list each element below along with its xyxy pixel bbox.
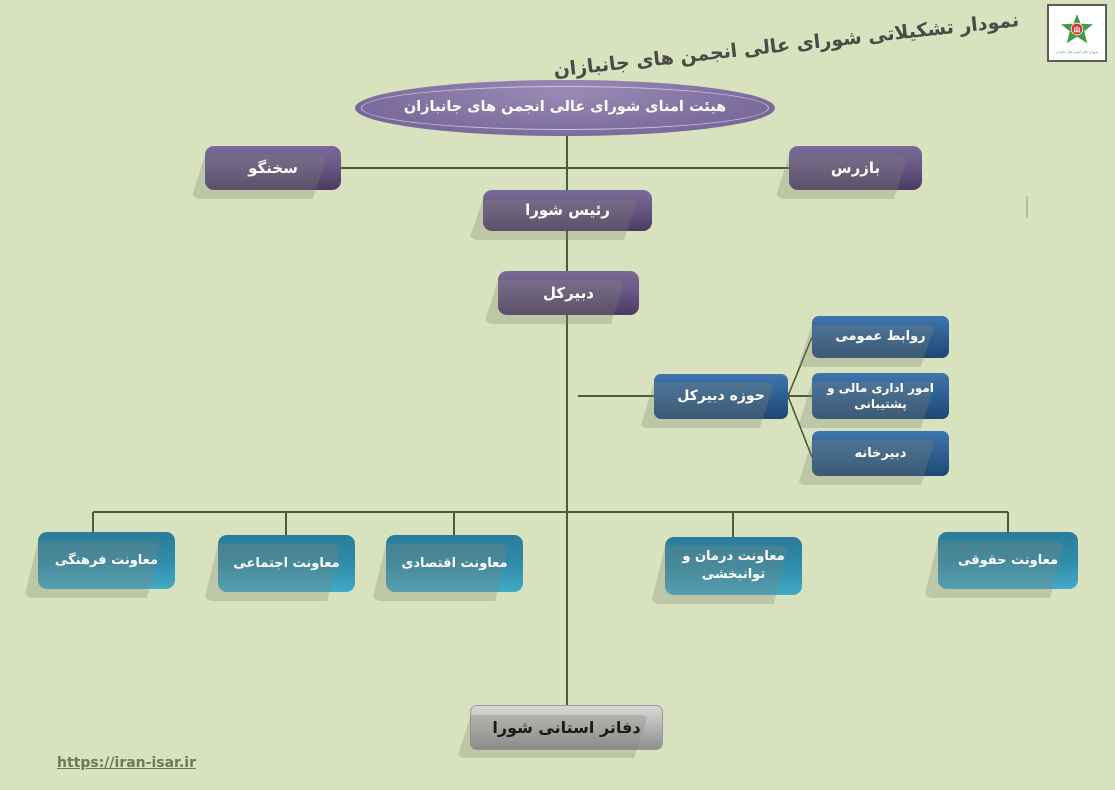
node-deputy-social[interactable]: معاونت اجتماعی — [218, 535, 355, 592]
node-public-relations[interactable]: روابط عمومی — [812, 316, 949, 358]
node-label: سخنگو — [242, 158, 304, 178]
node-label: دفاتر استانی شورا — [486, 717, 646, 739]
page-title: نمودار تشکیلاتی شورای عالی انجمن های جان… — [719, 8, 1020, 66]
stray-tick-artifact — [1026, 196, 1028, 218]
node-inspector[interactable]: بازرس — [789, 146, 922, 190]
node-deputy-legal[interactable]: معاونت حقوقی — [938, 532, 1078, 589]
emblem-icon: شورای عالی انجمن های جانبازان — [1051, 8, 1103, 58]
node-label: معاونت اقتصادی — [395, 555, 513, 573]
node-label: دبیرخانه — [849, 445, 913, 463]
node-deputy-economic[interactable]: معاونت اقتصادی — [386, 535, 523, 592]
org-chart-canvas: نمودار تشکیلاتی شورای عالی انجمن های جان… — [0, 0, 1115, 790]
node-board-of-trustees[interactable]: هیئت امنای شورای عالی انجمن های جانبازان — [355, 80, 775, 136]
node-spokesperson[interactable]: سخنگو — [205, 146, 341, 190]
node-secretary-general-office[interactable]: حوزه دبیرکل — [654, 374, 788, 419]
node-label: معاونت اجتماعی — [227, 555, 345, 573]
node-council-chairman[interactable]: رئیس شورا — [483, 190, 652, 231]
node-label: روابط عمومی — [829, 328, 931, 346]
node-secretariat[interactable]: دبیرخانه — [812, 431, 949, 476]
node-provincial-offices[interactable]: دفاتر استانی شورا — [470, 705, 663, 750]
node-label: هیئت امنای شورای عالی انجمن های جانبازان — [398, 98, 732, 118]
node-secretary-general[interactable]: دبیرکل — [498, 271, 639, 315]
node-deputy-cultural[interactable]: معاونت فرهنگی — [38, 532, 175, 589]
node-label: معاونت فرهنگی — [49, 552, 164, 570]
node-label: بازرس — [825, 158, 886, 178]
node-label: دبیرکل — [537, 283, 600, 303]
website-link[interactable]: https://iran-isar.ir — [57, 755, 196, 771]
node-label: امور اداری مالی و پشتیبانی — [812, 380, 949, 412]
node-label: معاونت درمان و توانبخشی — [665, 548, 802, 583]
node-label: معاونت حقوقی — [952, 552, 1064, 570]
emblem-caption: شورای عالی انجمن های جانبازان — [1056, 50, 1099, 54]
organization-logo: شورای عالی انجمن های جانبازان — [1047, 4, 1107, 62]
node-label: حوزه دبیرکل — [671, 387, 771, 406]
node-label: رئیس شورا — [519, 200, 616, 220]
node-admin-finance-support[interactable]: امور اداری مالی و پشتیبانی — [812, 373, 949, 419]
node-deputy-treatment-rehabilitation[interactable]: معاونت درمان و توانبخشی — [665, 537, 802, 595]
